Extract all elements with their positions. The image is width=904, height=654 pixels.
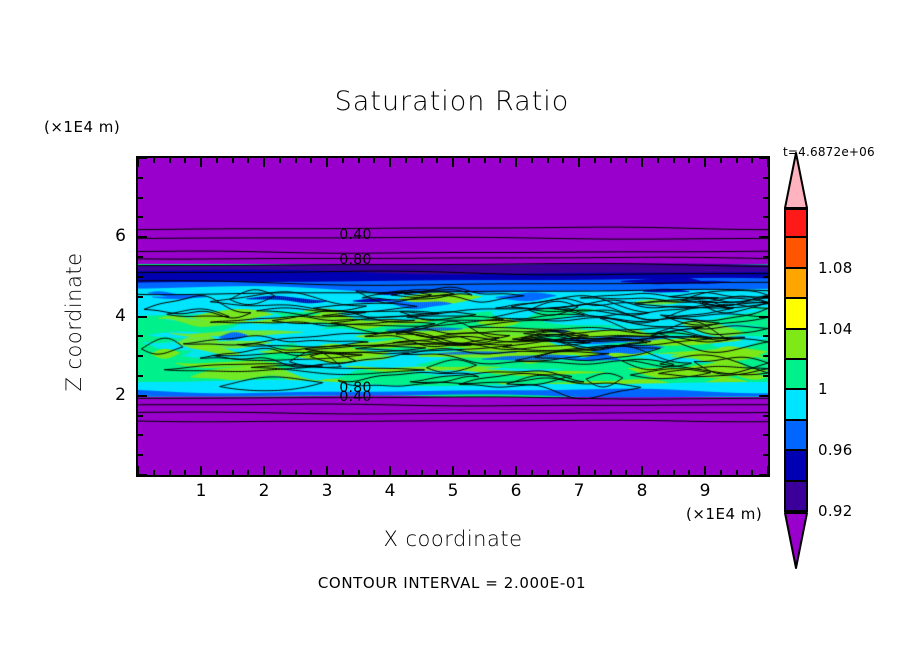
colorbar-label: 0.96 (818, 441, 853, 459)
axis-tick (531, 158, 533, 163)
axis-tick (515, 158, 517, 167)
axis-tick (138, 316, 147, 318)
axis-tick (594, 470, 596, 475)
axis-tick (389, 466, 391, 475)
axis-tick (704, 158, 706, 167)
axis-tick (153, 470, 155, 475)
axis-tick (763, 415, 768, 417)
x-tick-label: 2 (244, 481, 284, 501)
axis-tick (138, 216, 143, 218)
page-title: Saturation Ratio (0, 86, 904, 117)
x-tick-label: 1 (181, 481, 221, 501)
axis-tick (547, 470, 549, 475)
y-tick-label: 4 (86, 306, 126, 326)
axis-tick (342, 158, 344, 163)
axis-tick (184, 158, 186, 163)
axis-tick (610, 158, 612, 163)
axis-tick (263, 158, 265, 167)
axis-tick (562, 158, 564, 163)
axis-tick (720, 158, 722, 163)
axis-tick (625, 470, 627, 475)
colorbar-band (784, 238, 808, 268)
colorbar-label: 0.92 (818, 502, 853, 520)
axis-tick (436, 470, 438, 475)
axis-tick (138, 177, 143, 179)
x-axis-unit-label: (×1E4 m) (686, 505, 762, 523)
colorbar-band (784, 330, 808, 360)
x-axis-title: X coordinate (136, 527, 770, 551)
axis-tick (138, 415, 143, 417)
axis-tick (138, 236, 147, 238)
axis-tick (484, 470, 486, 475)
colorbar-band (784, 269, 808, 299)
axis-tick (326, 158, 328, 167)
axis-tick (138, 296, 143, 298)
axis-tick (452, 158, 454, 167)
axis-tick (326, 466, 328, 475)
axis-tick (358, 470, 360, 475)
axis-tick (767, 158, 769, 167)
x-tick-label: 5 (433, 481, 473, 501)
axis-tick (342, 470, 344, 475)
axis-tick (625, 158, 627, 163)
axis-tick (138, 256, 143, 258)
axis-tick (295, 470, 297, 475)
axis-tick (138, 335, 143, 337)
axis-tick (452, 466, 454, 475)
y-tick-label: 6 (86, 226, 126, 246)
colorbar-label: 1.04 (818, 320, 853, 338)
axis-tick (531, 470, 533, 475)
axis-tick (763, 454, 768, 456)
axis-tick (484, 158, 486, 163)
axis-tick (138, 395, 147, 397)
axis-tick (763, 276, 768, 278)
axis-tick (263, 466, 265, 475)
axis-tick (578, 466, 580, 475)
axis-tick (138, 434, 143, 436)
axis-tick (763, 434, 768, 436)
colorbar-band (784, 360, 808, 390)
axis-tick (138, 375, 143, 377)
axis-tick (763, 256, 768, 258)
colorbar-band (784, 390, 808, 420)
x-tick-label: 3 (307, 481, 347, 501)
colorbar-label: 1.08 (818, 259, 853, 277)
axis-tick (247, 158, 249, 163)
axis-tick (763, 335, 768, 337)
axis-tick (232, 158, 234, 163)
axis-tick (594, 158, 596, 163)
axis-tick (137, 158, 139, 167)
contour-label: 0.80 (339, 252, 371, 268)
axis-tick (763, 355, 768, 357)
axis-tick (763, 375, 768, 377)
axis-tick (138, 474, 147, 476)
axis-tick (405, 470, 407, 475)
axis-tick (138, 197, 143, 199)
axis-tick (279, 158, 281, 163)
colorbar-band (784, 299, 808, 329)
axis-tick (736, 158, 738, 163)
axis-tick (610, 470, 612, 475)
colorbar-band (784, 451, 808, 481)
axis-tick (763, 216, 768, 218)
axis-tick (688, 470, 690, 475)
axis-tick (641, 158, 643, 167)
axis-tick (247, 470, 249, 475)
contour-label: 0.40 (339, 227, 371, 243)
axis-tick (436, 158, 438, 163)
axis-tick (169, 158, 171, 163)
axis-tick (468, 470, 470, 475)
axis-tick (310, 158, 312, 163)
axis-tick (499, 158, 501, 163)
x-tick-label: 6 (496, 481, 536, 501)
axis-tick (751, 158, 753, 163)
contour-interval-caption: CONTOUR INTERVAL = 2.000E-01 (0, 574, 904, 592)
colorbar-cap-bottom (784, 512, 808, 573)
axis-tick (421, 158, 423, 163)
contour-label: 0.40 (339, 389, 371, 405)
axis-tick (641, 466, 643, 475)
axis-tick (405, 158, 407, 163)
axis-tick (310, 470, 312, 475)
axis-tick (184, 470, 186, 475)
x-tick-label: 8 (622, 481, 662, 501)
colorbar-label: 1 (818, 380, 828, 398)
colorbar-cap-top (784, 152, 808, 213)
axis-tick (279, 470, 281, 475)
axis-tick (295, 158, 297, 163)
axis-tick (673, 158, 675, 163)
axis-tick (763, 197, 768, 199)
axis-tick (759, 316, 768, 318)
x-tick-label: 4 (370, 481, 410, 501)
axis-tick (515, 466, 517, 475)
axis-tick (578, 158, 580, 167)
axis-tick (547, 158, 549, 163)
axis-tick (657, 470, 659, 475)
axis-tick (216, 470, 218, 475)
y-tick-label: 2 (86, 385, 126, 405)
axis-tick (720, 470, 722, 475)
figure-root: Saturation Ratio (×1E4 m) (×1E4 m) t=4.6… (0, 0, 904, 654)
colorbar-band (784, 482, 808, 512)
axis-tick (138, 355, 143, 357)
axis-tick (704, 466, 706, 475)
axis-tick (736, 470, 738, 475)
axis-tick (759, 395, 768, 397)
axis-tick (751, 470, 753, 475)
axis-tick (499, 470, 501, 475)
contour-plot-area (136, 156, 770, 477)
axis-tick (232, 470, 234, 475)
axis-tick (138, 276, 143, 278)
y-axis-title: Z coordinate (62, 222, 86, 422)
axis-tick (468, 158, 470, 163)
contour-field (138, 158, 768, 475)
axis-tick (200, 466, 202, 475)
colorbar (784, 208, 808, 512)
y-axis-unit-label: (×1E4 m) (44, 118, 120, 136)
axis-tick (138, 454, 143, 456)
axis-tick (562, 470, 564, 475)
axis-tick (688, 158, 690, 163)
axis-tick (763, 177, 768, 179)
x-tick-label: 9 (685, 481, 725, 501)
x-tick-label: 7 (559, 481, 599, 501)
axis-tick (763, 296, 768, 298)
colorbar-band (784, 421, 808, 451)
axis-tick (421, 470, 423, 475)
axis-tick (373, 470, 375, 475)
axis-tick (200, 158, 202, 167)
axis-tick (759, 474, 768, 476)
axis-tick (657, 158, 659, 163)
axis-tick (358, 158, 360, 163)
axis-tick (216, 158, 218, 163)
axis-tick (138, 157, 147, 159)
axis-tick (153, 158, 155, 163)
axis-tick (759, 157, 768, 159)
axis-tick (169, 470, 171, 475)
axis-tick (373, 158, 375, 163)
axis-tick (389, 158, 391, 167)
axis-tick (673, 470, 675, 475)
axis-tick (759, 236, 768, 238)
